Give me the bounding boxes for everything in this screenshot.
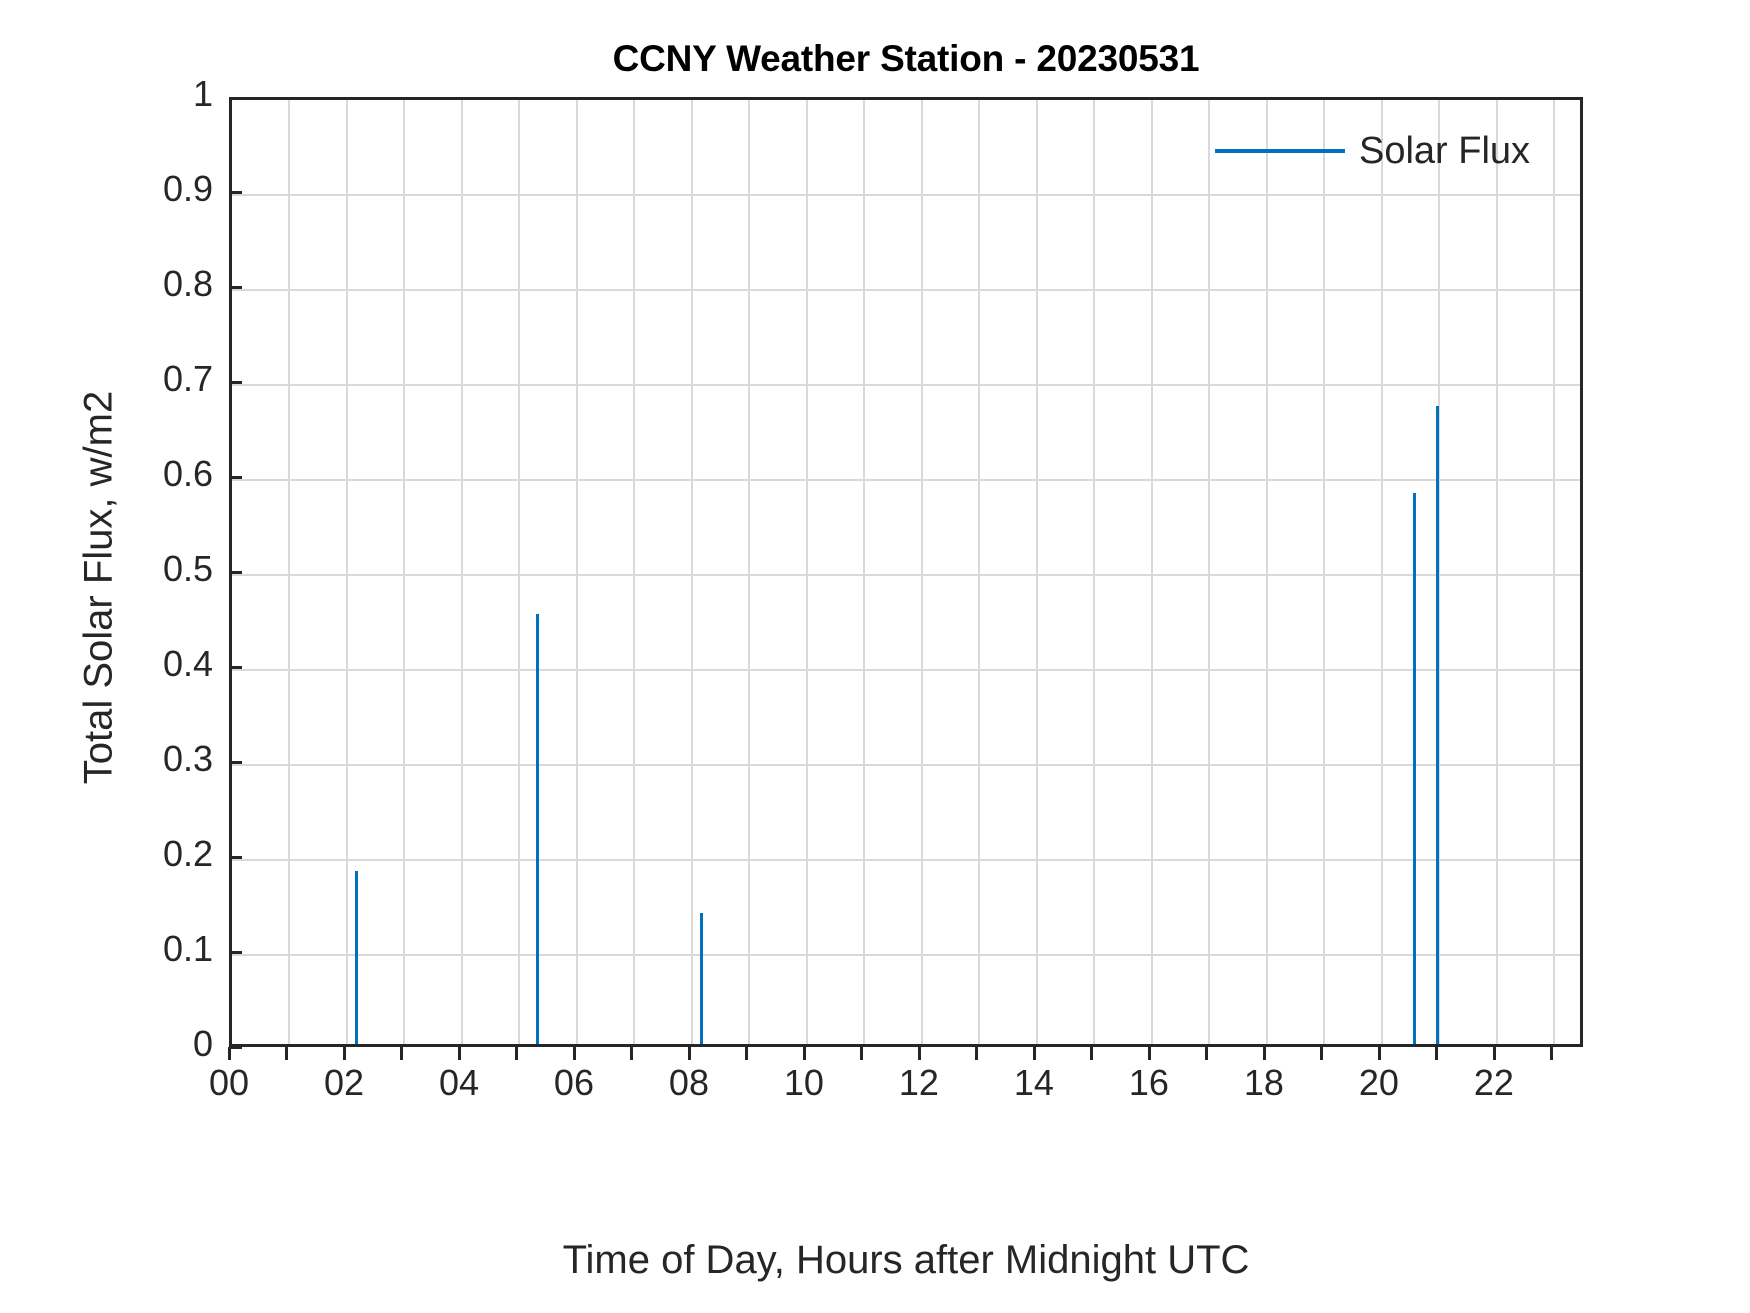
x-tick-mark xyxy=(458,1047,461,1060)
y-tick-label: 1 xyxy=(193,73,213,115)
x-tick-mark xyxy=(1148,1047,1151,1060)
gridline-vertical xyxy=(1036,100,1038,1044)
y-tick-label: 0.3 xyxy=(163,738,213,780)
plot-area xyxy=(229,97,1583,1047)
gridline-horizontal xyxy=(232,479,1580,481)
x-tick-label: 00 xyxy=(209,1062,249,1104)
gridline-vertical xyxy=(1151,100,1153,1044)
legend-label-solar-flux: Solar Flux xyxy=(1359,130,1530,173)
y-tick-label: 0.8 xyxy=(163,263,213,305)
gridline-vertical xyxy=(1323,100,1325,1044)
x-tick-mark xyxy=(1378,1047,1381,1060)
x-tick-label: 22 xyxy=(1474,1062,1514,1104)
gridline-vertical xyxy=(1381,100,1383,1044)
gridline-horizontal xyxy=(232,954,1580,956)
legend[interactable]: Solar Flux xyxy=(1215,120,1530,182)
gridline-vertical xyxy=(576,100,578,1044)
y-tick-label: 0.5 xyxy=(163,548,213,590)
x-tick-mark xyxy=(803,1047,806,1060)
x-tick-mark xyxy=(1033,1047,1036,1060)
x-tick-mark-minor xyxy=(1090,1047,1093,1060)
gridline-vertical xyxy=(1093,100,1095,1044)
gridline-vertical xyxy=(288,100,290,1044)
x-tick-mark-minor xyxy=(630,1047,633,1060)
gridline-horizontal xyxy=(232,289,1580,291)
y-tick-label: 0 xyxy=(193,1023,213,1065)
y-tick-label: 0.4 xyxy=(163,643,213,685)
gridline-vertical xyxy=(1553,100,1555,1044)
gridline-vertical xyxy=(346,100,348,1044)
x-tick-mark xyxy=(1493,1047,1496,1060)
y-tick-mark xyxy=(229,951,242,954)
x-tick-label: 18 xyxy=(1244,1062,1284,1104)
gridline-vertical xyxy=(518,100,520,1044)
x-tick-label: 02 xyxy=(324,1062,364,1104)
gridline-horizontal xyxy=(232,194,1580,196)
gridline-vertical xyxy=(921,100,923,1044)
data-spike xyxy=(355,871,358,1047)
x-tick-mark-minor xyxy=(1550,1047,1553,1060)
y-tick-mark xyxy=(229,476,242,479)
x-tick-mark xyxy=(228,1047,231,1060)
gridline-horizontal xyxy=(232,764,1580,766)
y-tick-label: 0.9 xyxy=(163,168,213,210)
y-axis-label: Total Solar Flux, w/m2 xyxy=(77,113,122,1063)
gridline-vertical xyxy=(461,100,463,1044)
x-tick-label: 04 xyxy=(439,1062,479,1104)
x-tick-label: 14 xyxy=(1014,1062,1054,1104)
gridline-horizontal xyxy=(232,669,1580,671)
y-tick-label: 0.1 xyxy=(163,928,213,970)
y-tick-label: 0.2 xyxy=(163,833,213,875)
gridline-vertical xyxy=(1266,100,1268,1044)
x-tick-label: 10 xyxy=(784,1062,824,1104)
y-tick-mark xyxy=(229,571,242,574)
gridline-vertical xyxy=(1496,100,1498,1044)
y-tick-mark xyxy=(229,666,242,669)
x-tick-mark-minor xyxy=(285,1047,288,1060)
x-tick-mark xyxy=(918,1047,921,1060)
data-spike xyxy=(1436,406,1439,1047)
x-tick-mark xyxy=(1263,1047,1266,1060)
x-tick-mark-minor xyxy=(1320,1047,1323,1060)
data-spike xyxy=(1413,493,1416,1047)
x-tick-mark-minor xyxy=(515,1047,518,1060)
y-tick-mark xyxy=(229,286,242,289)
figure-canvas: CCNY Weather Station - 20230531 00.10.20… xyxy=(0,0,1750,1313)
x-tick-mark xyxy=(343,1047,346,1060)
x-tick-label: 08 xyxy=(669,1062,709,1104)
x-axis-label: Time of Day, Hours after Midnight UTC xyxy=(229,1238,1583,1283)
x-tick-label: 12 xyxy=(899,1062,939,1104)
y-tick-label: 0.6 xyxy=(163,453,213,495)
gridline-horizontal xyxy=(232,859,1580,861)
x-tick-mark-minor xyxy=(400,1047,403,1060)
gridline-vertical xyxy=(403,100,405,1044)
gridline-vertical xyxy=(748,100,750,1044)
x-tick-label: 20 xyxy=(1359,1062,1399,1104)
y-tick-mark xyxy=(229,381,242,384)
gridline-horizontal xyxy=(232,574,1580,576)
gridline-vertical xyxy=(691,100,693,1044)
x-tick-mark-minor xyxy=(745,1047,748,1060)
x-tick-mark-minor xyxy=(1435,1047,1438,1060)
x-tick-mark-minor xyxy=(1205,1047,1208,1060)
y-tick-label: 0.7 xyxy=(163,358,213,400)
x-tick-mark-minor xyxy=(860,1047,863,1060)
x-tick-label: 16 xyxy=(1129,1062,1169,1104)
legend-line-solar-flux xyxy=(1215,149,1345,153)
gridline-horizontal xyxy=(232,384,1580,386)
gridline-vertical xyxy=(978,100,980,1044)
gridline-vertical xyxy=(863,100,865,1044)
page-title: CCNY Weather Station - 20230531 xyxy=(229,38,1583,80)
x-tick-mark-minor xyxy=(975,1047,978,1060)
x-tick-mark xyxy=(573,1047,576,1060)
data-spike xyxy=(536,614,539,1047)
x-tick-mark xyxy=(688,1047,691,1060)
gridline-vertical xyxy=(1438,100,1440,1044)
y-tick-mark xyxy=(229,761,242,764)
y-tick-mark xyxy=(229,191,242,194)
gridline-vertical xyxy=(633,100,635,1044)
x-tick-label: 06 xyxy=(554,1062,594,1104)
gridline-vertical xyxy=(806,100,808,1044)
y-tick-mark xyxy=(229,856,242,859)
gridline-vertical xyxy=(1208,100,1210,1044)
data-spike xyxy=(700,913,703,1047)
